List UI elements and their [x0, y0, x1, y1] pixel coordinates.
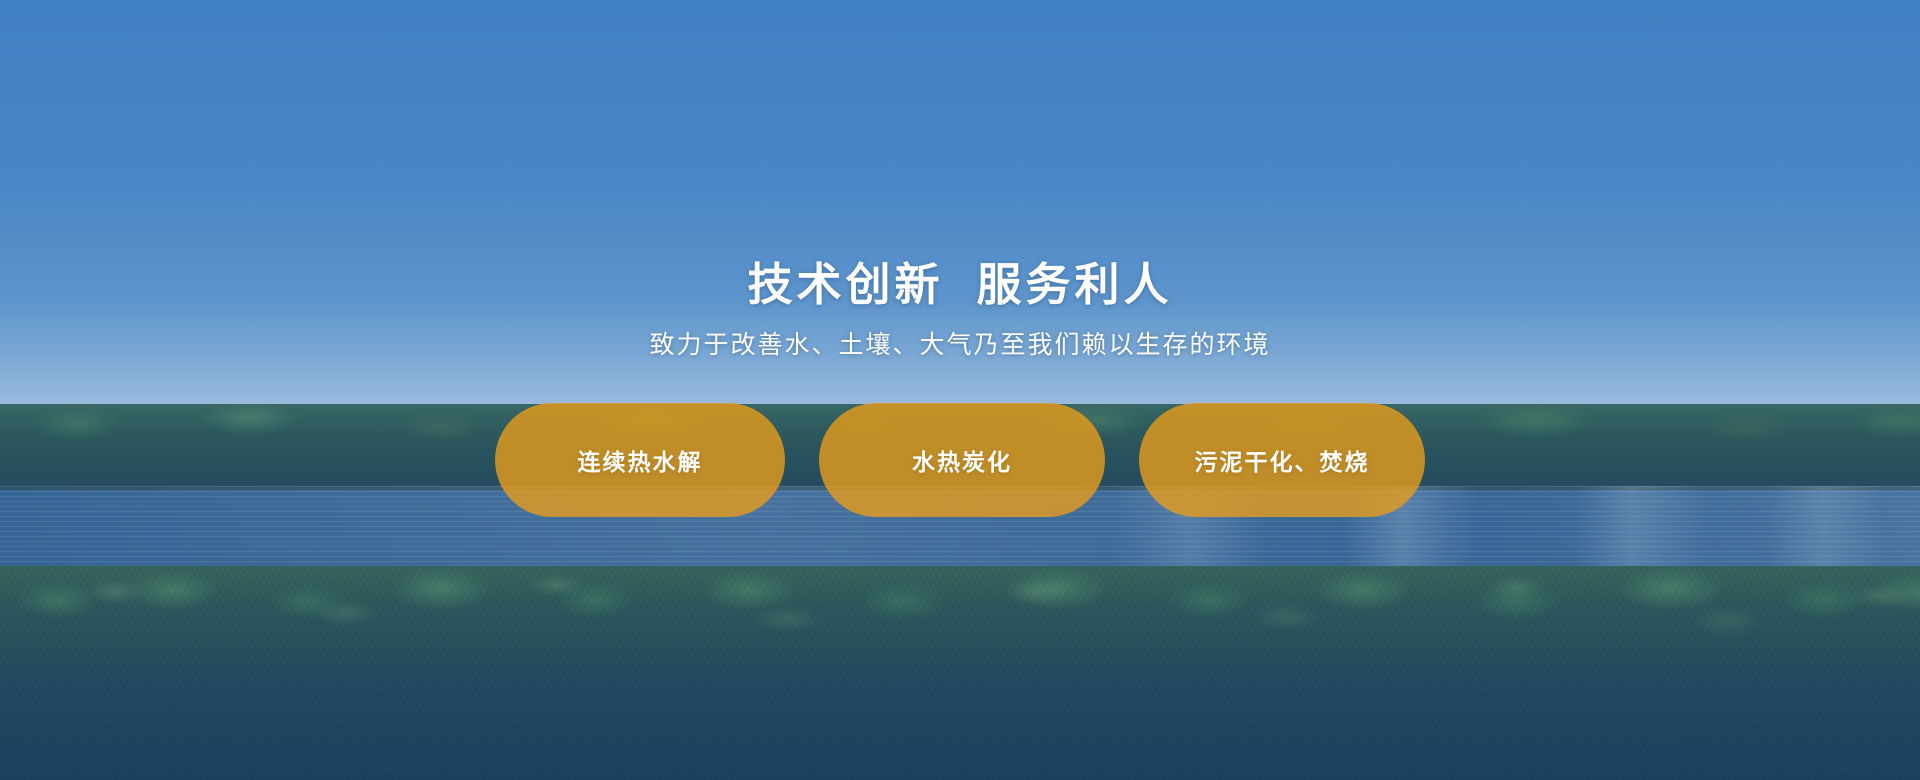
tag-button-continuous-thermal-hydrolysis[interactable]: 连续热水解: [495, 403, 785, 517]
hero-content: 技术创新 服务利人 致力于改善水、土壤、大气乃至我们赖以生存的环境 连续热水解 …: [0, 0, 1920, 780]
page-title: 技术创新 服务利人: [747, 262, 1172, 307]
tag-button-hydrothermal-carbonization[interactable]: 水热炭化: [819, 403, 1105, 517]
tag-button-sludge-drying-incineration[interactable]: 污泥干化、焚烧: [1139, 403, 1425, 517]
hero-subtitle: 致力于改善水、土壤、大气乃至我们赖以生存的环境: [649, 333, 1270, 358]
service-tag-row: 连续热水解 水热炭化 污泥干化、焚烧: [495, 403, 1425, 517]
hero-banner: 技术创新 服务利人 致力于改善水、土壤、大气乃至我们赖以生存的环境 连续热水解 …: [0, 0, 1920, 780]
